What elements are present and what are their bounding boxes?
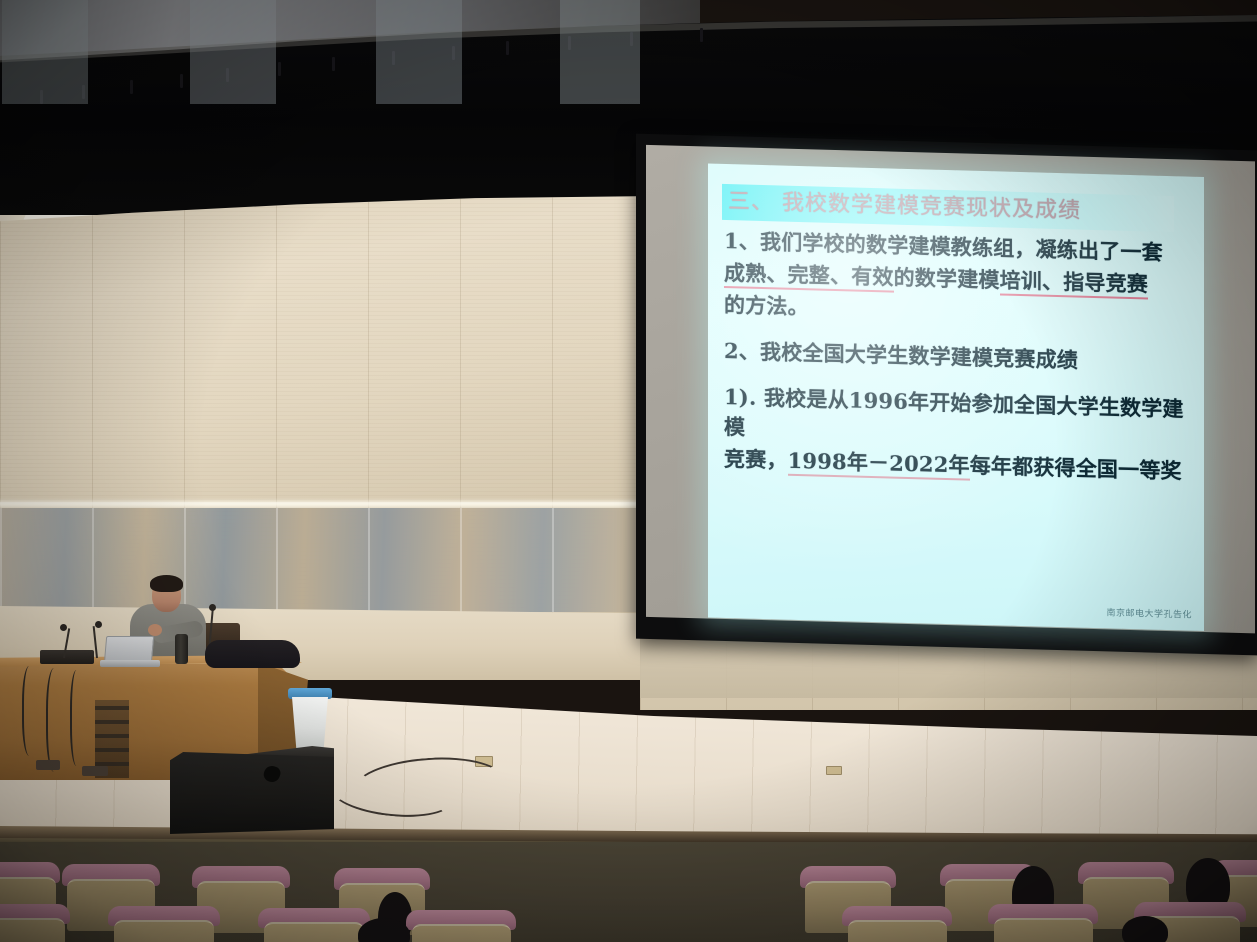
metal-wall-panel-band bbox=[0, 508, 660, 612]
slide-line: 1). 我校是从1996年开始参加全国大学生数学建模 bbox=[724, 382, 1194, 455]
presenter-hair bbox=[150, 575, 183, 592]
microphone-head bbox=[95, 621, 102, 628]
slide-text-segment: 的数学建模 bbox=[894, 265, 1000, 293]
metal-panel bbox=[376, 0, 462, 104]
slide-text-segment-underlined: 培训、指导竞赛 bbox=[1000, 267, 1148, 299]
list-item[interactable] bbox=[406, 910, 516, 942]
podium-cable bbox=[46, 668, 66, 772]
curtain-clip bbox=[130, 80, 133, 94]
folded-jacket bbox=[205, 640, 300, 668]
laptop-keyboard[interactable] bbox=[100, 660, 160, 667]
blue-white-stool bbox=[292, 697, 328, 749]
list-item[interactable] bbox=[0, 904, 70, 942]
podium-cable bbox=[22, 666, 40, 756]
slide-text-segment-underlined: 1998年－2022年 bbox=[788, 448, 970, 481]
audio-mixer bbox=[40, 650, 94, 664]
seat-back bbox=[994, 918, 1093, 942]
microphone-head bbox=[209, 604, 216, 611]
curtain-clip bbox=[180, 74, 183, 88]
curtain-clip bbox=[700, 28, 703, 42]
ladder-rung bbox=[95, 748, 129, 752]
presenter-hand bbox=[148, 624, 162, 636]
curtain-clip bbox=[278, 62, 281, 76]
audience-head bbox=[1122, 916, 1168, 942]
stage-monitor-speaker bbox=[170, 752, 334, 834]
curtain-clip bbox=[506, 41, 509, 55]
list-item[interactable] bbox=[108, 906, 220, 942]
seat-back bbox=[0, 918, 65, 942]
screen-surface: 三、 我校数学建模竞赛现状及成绩 1、我们学校的数学建模教练组，凝练出了一套 成… bbox=[646, 145, 1255, 633]
curtain-clip bbox=[332, 57, 335, 71]
ladder-rung bbox=[95, 720, 129, 724]
seat-back bbox=[264, 922, 365, 942]
slide-text-segment: 1). 我校是从1996年开始参加全国大学生数学建模 bbox=[724, 384, 1184, 440]
metal-panel bbox=[2, 0, 88, 104]
seat-back bbox=[848, 920, 947, 942]
lectern-foot bbox=[82, 766, 108, 776]
list-item[interactable] bbox=[258, 908, 370, 942]
slide-text-segment: 竞赛， bbox=[724, 446, 788, 473]
projected-slide: 三、 我校数学建模竞赛现状及成绩 1、我们学校的数学建模教练组，凝练出了一套 成… bbox=[708, 164, 1204, 631]
slide-text-segment: 的方法。 bbox=[724, 292, 809, 319]
floor-socket-box bbox=[826, 766, 842, 775]
metal-panel bbox=[560, 0, 640, 104]
thermos-cup bbox=[175, 634, 188, 664]
ladder-rung bbox=[95, 706, 129, 710]
slide-text-segment: 2、我校全国大学生数学建模竞赛成绩 bbox=[724, 338, 1078, 373]
projection-screen: 三、 我校数学建模竞赛现状及成绩 1、我们学校的数学建模教练组，凝练出了一套 成… bbox=[636, 134, 1257, 656]
lectern-foot bbox=[36, 760, 60, 770]
slide-line: 2、我校全国大学生数学建模竞赛成绩 bbox=[724, 336, 1194, 379]
slide-text-segment: 每年都获得全国一等奖 bbox=[970, 453, 1182, 484]
slide-title: 三、 我校数学建模竞赛现状及成绩 bbox=[728, 186, 1178, 230]
metal-panel bbox=[190, 0, 276, 104]
slide-footer-watermark: 南京邮电大学孔告化 bbox=[1106, 605, 1192, 620]
list-item[interactable] bbox=[988, 904, 1098, 942]
list-item[interactable] bbox=[842, 906, 952, 942]
seat-back bbox=[114, 920, 215, 942]
seat-back bbox=[412, 924, 511, 942]
slide-body: 1、我们学校的数学建模教练组，凝练出了一套 成熟、完整、有效的数学建模培训、指导… bbox=[724, 226, 1194, 489]
microphone-head bbox=[60, 624, 67, 631]
podium-cable bbox=[70, 670, 86, 766]
ladder-rung bbox=[95, 734, 129, 738]
lecture-hall-photo: 三、 我校数学建模竞赛现状及成绩 1、我们学校的数学建模教练组，凝练出了一套 成… bbox=[0, 0, 1257, 942]
slide-text-segment-underlined: 成熟、完整、有效 bbox=[724, 260, 894, 293]
